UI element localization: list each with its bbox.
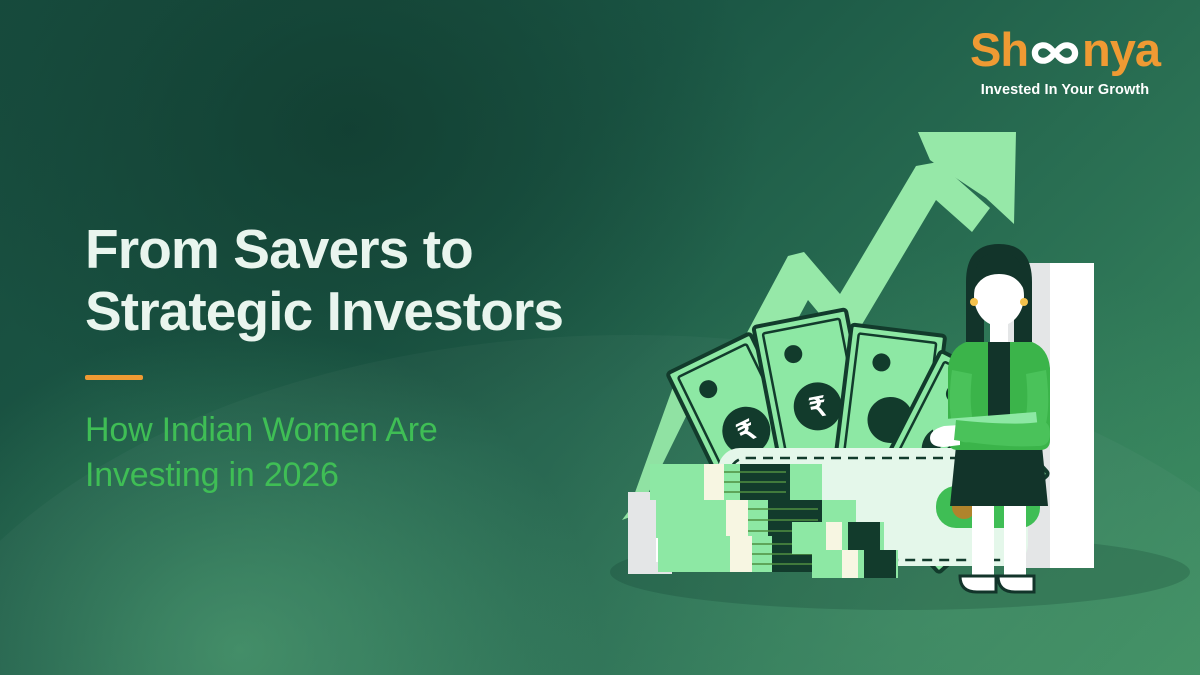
woman-investor-growth-illustration: ₹ ₹	[600, 120, 1200, 630]
brand-logo[interactable]: Sh nya Invested In Your Growth	[960, 26, 1170, 98]
infinity-symbol-icon	[1029, 38, 1081, 68]
brand-wordmark: Sh nya	[960, 26, 1170, 73]
brand-name-suffix: nya	[1082, 26, 1160, 73]
page-title: From Savers to Strategic Investors	[85, 218, 685, 342]
backdrop-bar-white	[1050, 263, 1094, 568]
hero-copy: From Savers to Strategic Investors How I…	[85, 218, 685, 498]
page-subtitle: How Indian Women Are Investing in 2026	[85, 408, 685, 498]
hero-banner: Sh nya Invested In Your Growth From Save…	[0, 0, 1200, 675]
brand-tagline: Invested In Your Growth	[960, 82, 1170, 98]
title-divider	[85, 375, 143, 380]
brand-name-prefix: Sh	[970, 26, 1028, 73]
